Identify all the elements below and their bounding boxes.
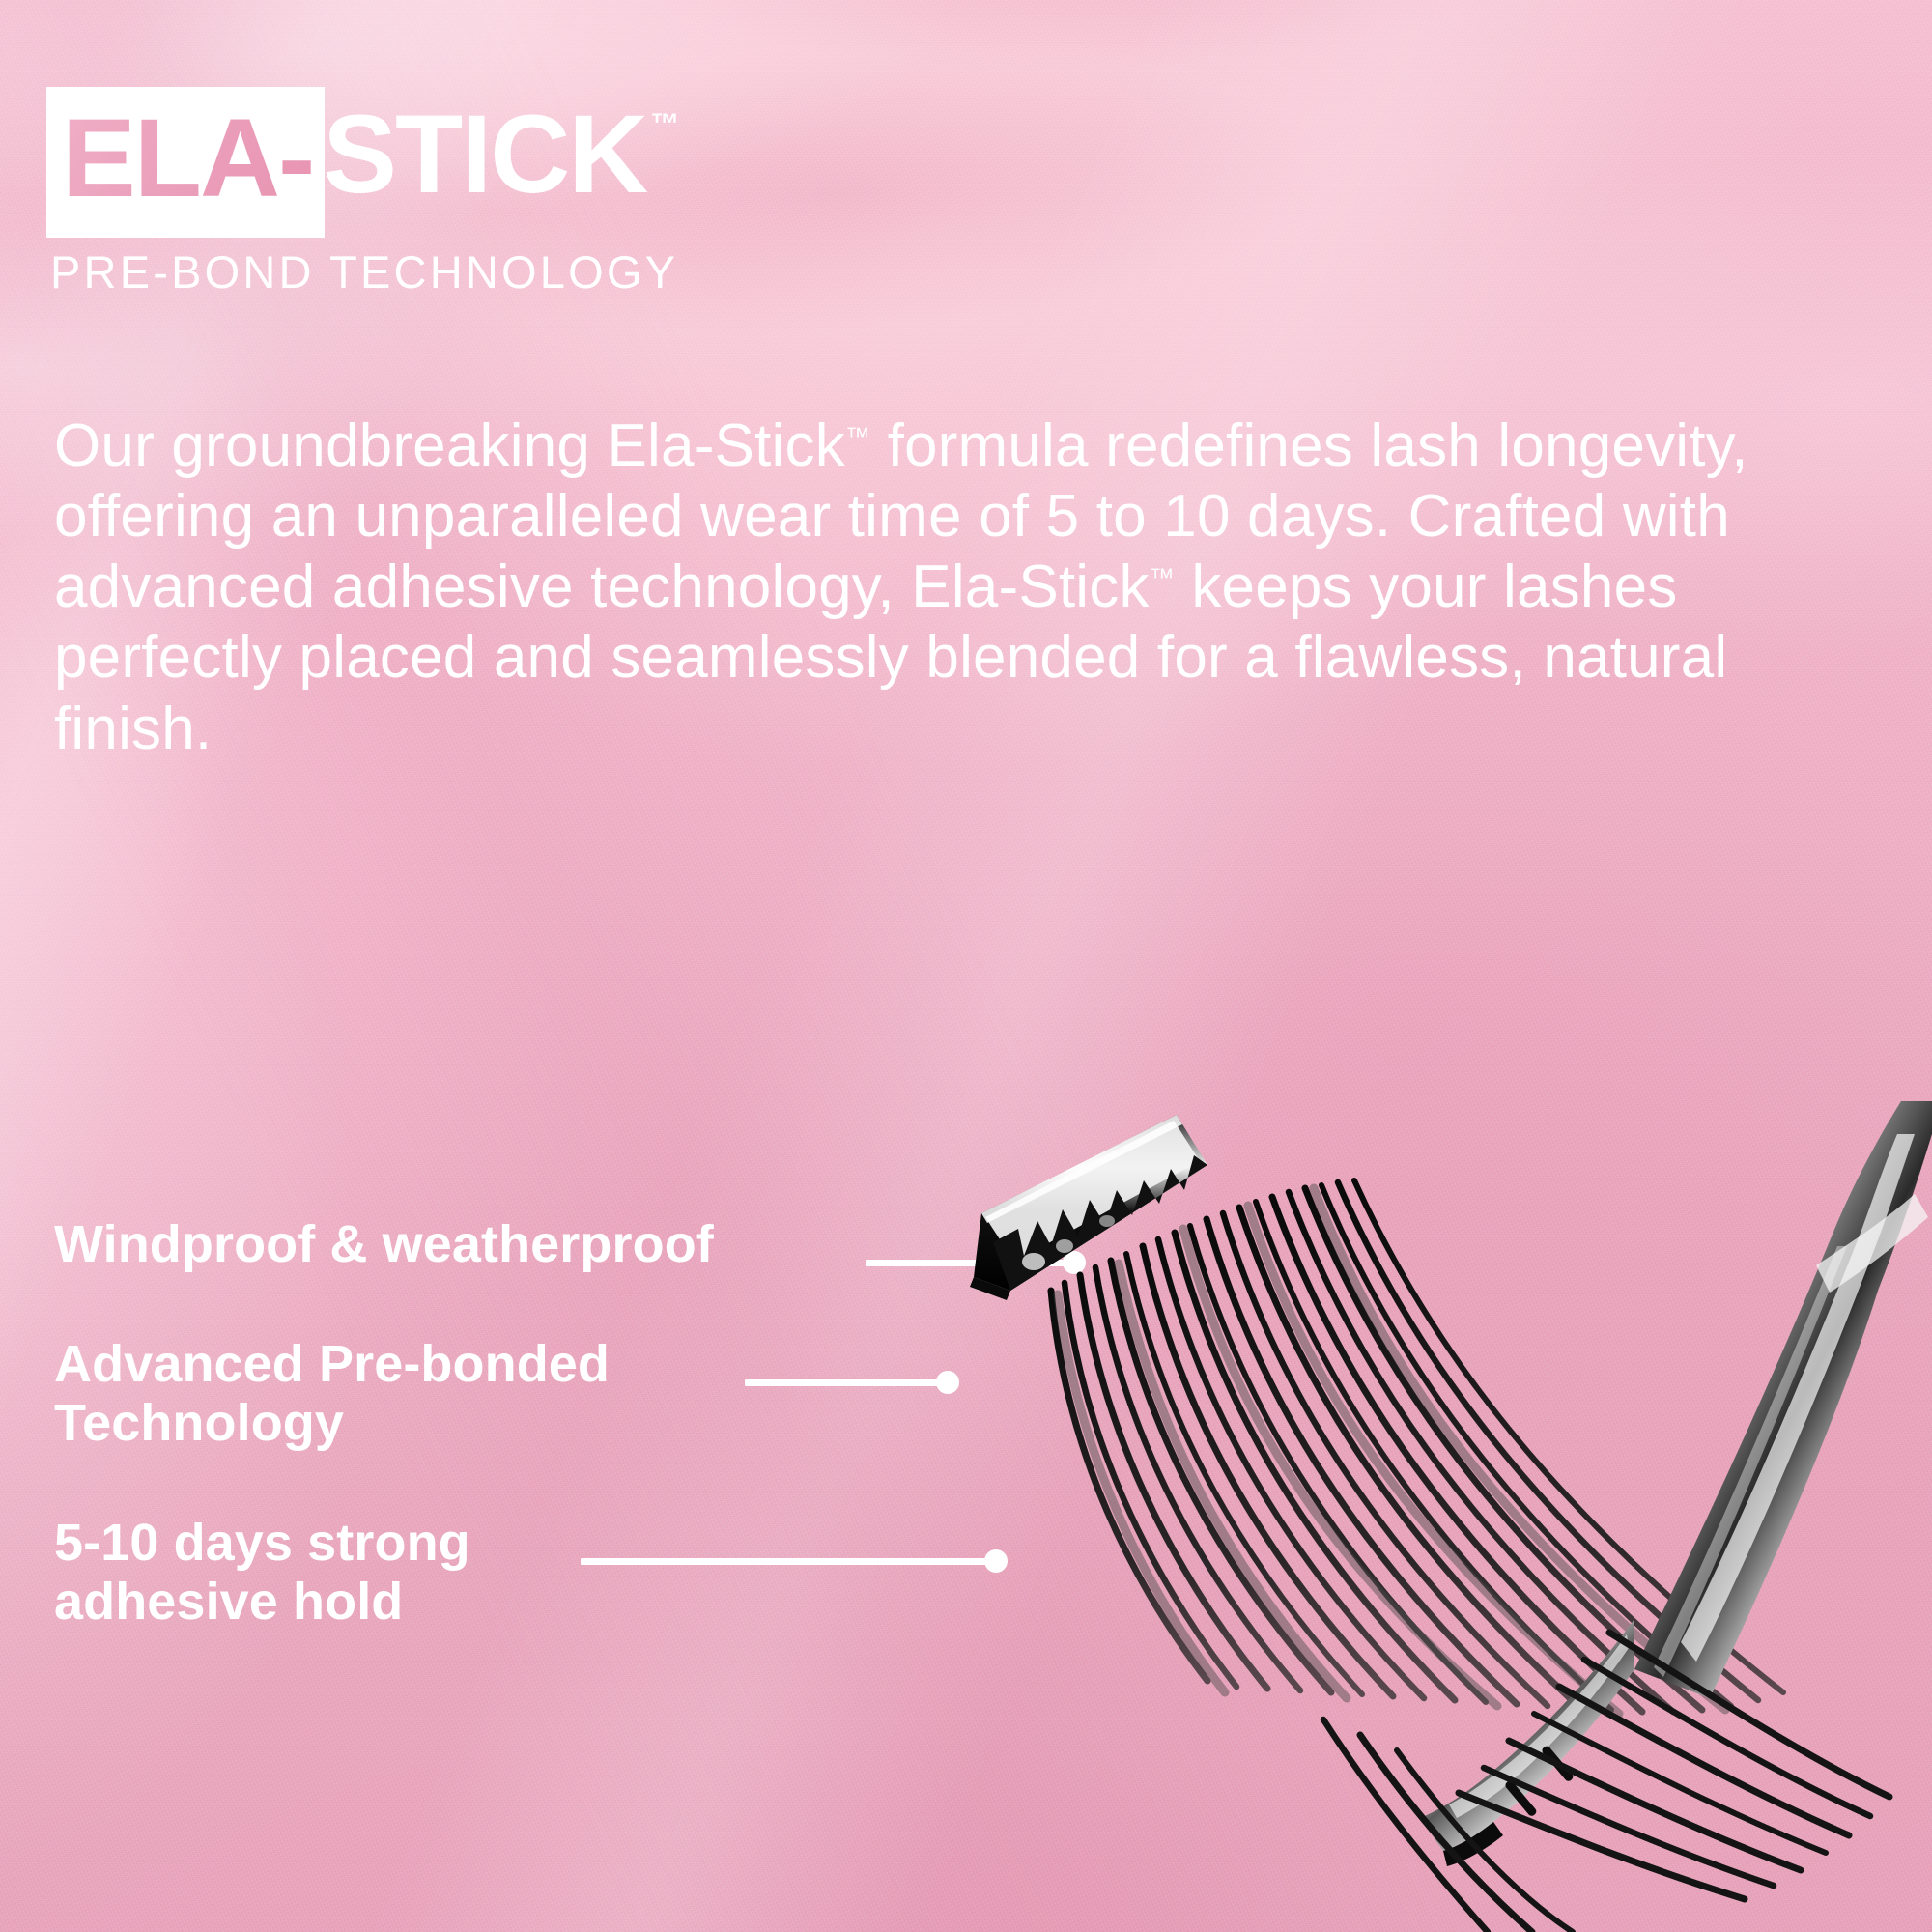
feature-label: 5-10 days strong adhesive hold <box>54 1514 470 1631</box>
feature-item-pre-bonded: Advanced Pre-bonded Technology <box>54 1335 1889 1452</box>
feature-label: Windproof & weatherproof <box>54 1215 714 1273</box>
description-segment-1: Our groundbreaking Ela-Stick <box>54 412 845 479</box>
promo-canvas: ELA- STICK ™ PRE-BOND TECHNOLOGY Our gro… <box>0 0 1932 1932</box>
trademark-icon-inline-2: ™ <box>1150 563 1175 592</box>
feature-label: Advanced Pre-bonded Technology <box>54 1335 610 1452</box>
description-paragraph: Our groundbreaking Ela-Stick™ formula re… <box>54 411 1880 764</box>
logo-text-stick: STICK <box>323 104 646 207</box>
trademark-icon-inline-1: ™ <box>845 421 870 450</box>
content-layer: ELA- STICK ™ PRE-BOND TECHNOLOGY Our gro… <box>0 0 1932 1932</box>
connector-line <box>581 1558 986 1565</box>
feature-list: Windproof & weatherproof Advanced Pre-bo… <box>54 1215 1889 1631</box>
feature-item-windproof: Windproof & weatherproof <box>54 1215 1889 1273</box>
logo-text-ela: ELA- <box>62 108 313 211</box>
logo-knockout-box: ELA- <box>46 87 325 238</box>
connector-line <box>866 1260 1065 1266</box>
feature-connector <box>581 1550 1008 1572</box>
lash-fibres-foreground <box>1323 1633 1889 1932</box>
connector-line <box>745 1379 938 1386</box>
brand-logo: ELA- STICK ™ PRE-BOND TECHNOLOGY <box>46 97 679 298</box>
trademark-icon: ™ <box>650 110 679 139</box>
connector-dot-icon <box>936 1371 959 1394</box>
connector-dot-icon <box>984 1549 1008 1573</box>
feature-item-adhesive-hold: 5-10 days strong adhesive hold <box>54 1514 1889 1631</box>
logo-lockup: ELA- STICK ™ <box>46 97 679 224</box>
feature-connector <box>866 1252 1086 1273</box>
connector-dot-icon <box>1063 1251 1086 1274</box>
feature-connector <box>745 1372 959 1393</box>
brand-tagline: PRE-BOND TECHNOLOGY <box>50 245 679 298</box>
